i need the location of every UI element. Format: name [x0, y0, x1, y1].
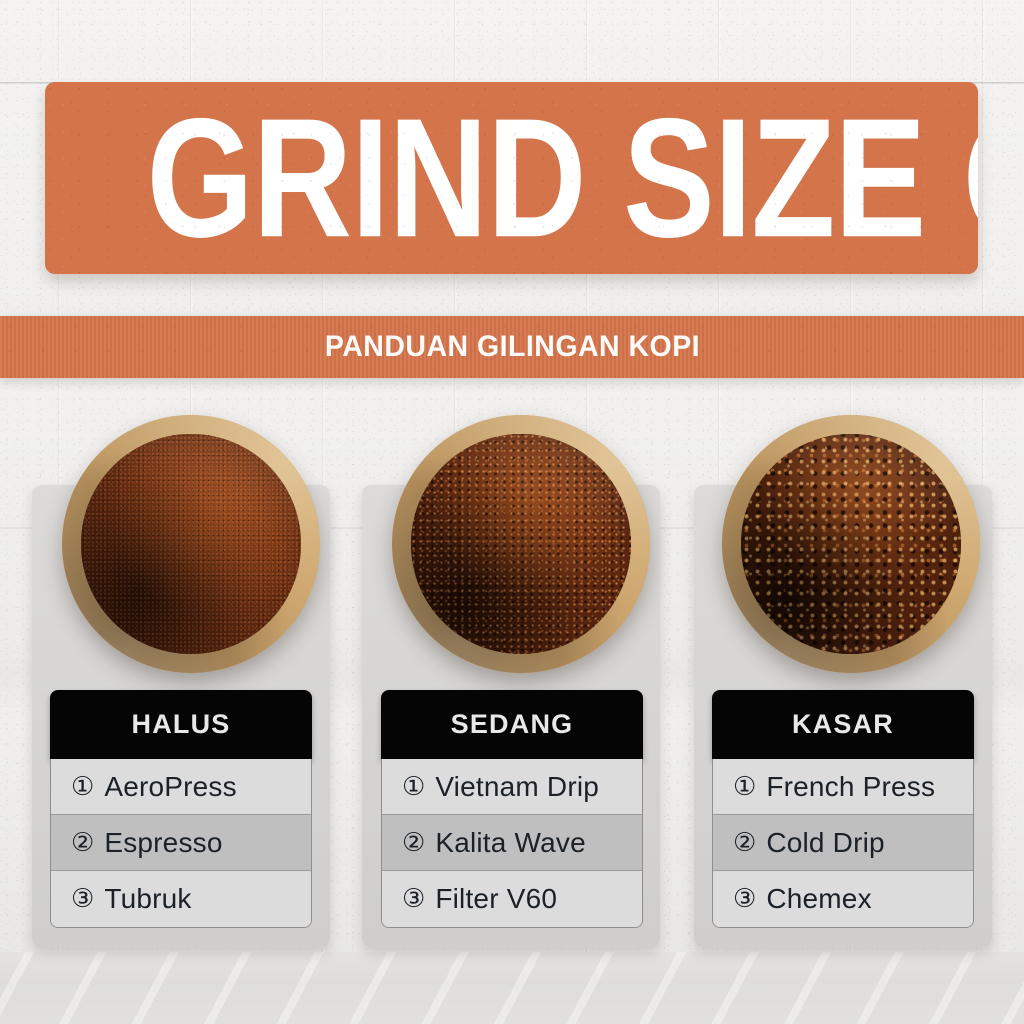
- list-item-label: Vietnam Drip: [435, 771, 599, 803]
- list-item-label: Tubruk: [104, 883, 191, 915]
- bowl-interior: [411, 434, 630, 653]
- column-header-halus: HALUS: [50, 690, 312, 759]
- list-number-icon: ①: [71, 774, 94, 800]
- bowl-halus: [62, 415, 320, 673]
- coffee-grounds-fine: [81, 434, 300, 653]
- subtitle: PANDUAN GILINGAN KOPI: [0, 316, 1024, 378]
- list-item-label: Chemex: [766, 883, 871, 915]
- list-number-icon: ③: [402, 886, 425, 912]
- list-item-label: Kalita Wave: [435, 827, 586, 859]
- list-item[interactable]: ② Espresso: [51, 815, 311, 871]
- label-card-sedang: SEDANG ① Vietnam Drip ② Kalita Wave ③ Fi…: [381, 690, 643, 928]
- bowl-kasar: [722, 415, 980, 673]
- list-item[interactable]: ① Vietnam Drip: [382, 759, 642, 815]
- method-list-halus: ① AeroPress ② Espresso ③ Tubruk: [50, 759, 312, 928]
- coffee-grounds-medium: [411, 434, 630, 653]
- list-item[interactable]: ③ Tubruk: [51, 871, 311, 927]
- bowl-sedang: [392, 415, 650, 673]
- list-item-label: AeroPress: [104, 771, 237, 803]
- list-number-icon: ②: [402, 830, 425, 856]
- list-number-icon: ③: [733, 886, 756, 912]
- list-item-label: French Press: [766, 771, 935, 803]
- column-header-sedang: SEDANG: [381, 690, 643, 759]
- list-item-label: Filter V60: [435, 883, 557, 915]
- column-heading-label: KASAR: [792, 709, 894, 740]
- list-number-icon: ③: [71, 886, 94, 912]
- list-item[interactable]: ② Cold Drip: [713, 815, 973, 871]
- bowl-interior: [81, 434, 300, 653]
- grind-columns: HALUS ① AeroPress ② Espresso ③ Tubruk: [0, 0, 1024, 1024]
- method-list-sedang: ① Vietnam Drip ② Kalita Wave ③ Filter V6…: [381, 759, 643, 928]
- column-heading-label: HALUS: [132, 709, 231, 740]
- list-item[interactable]: ② Kalita Wave: [382, 815, 642, 871]
- grind-size-guide-poster: GRIND SIZE GUIDE PANDUAN GILINGAN KOPI H…: [0, 0, 1024, 1024]
- bowl-interior: [741, 434, 960, 653]
- subtitle-banner: PANDUAN GILINGAN KOPI: [0, 316, 1024, 378]
- list-number-icon: ①: [733, 774, 756, 800]
- list-item[interactable]: ③ Chemex: [713, 871, 973, 927]
- column-header-kasar: KASAR: [712, 690, 974, 759]
- list-item[interactable]: ③ Filter V60: [382, 871, 642, 927]
- list-item[interactable]: ① AeroPress: [51, 759, 311, 815]
- list-item-label: Cold Drip: [766, 827, 885, 859]
- list-number-icon: ①: [402, 774, 425, 800]
- subtitle-text: PANDUAN GILINGAN KOPI: [324, 316, 699, 378]
- method-list-kasar: ① French Press ② Cold Drip ③ Chemex: [712, 759, 974, 928]
- list-number-icon: ②: [71, 830, 94, 856]
- column-heading-label: SEDANG: [451, 709, 574, 740]
- list-item-label: Espresso: [104, 827, 222, 859]
- list-number-icon: ②: [733, 830, 756, 856]
- coffee-grounds-coarse: [741, 434, 960, 653]
- label-card-halus: HALUS ① AeroPress ② Espresso ③ Tubruk: [50, 690, 312, 928]
- list-item[interactable]: ① French Press: [713, 759, 973, 815]
- label-card-kasar: KASAR ① French Press ② Cold Drip ③ Cheme…: [712, 690, 974, 928]
